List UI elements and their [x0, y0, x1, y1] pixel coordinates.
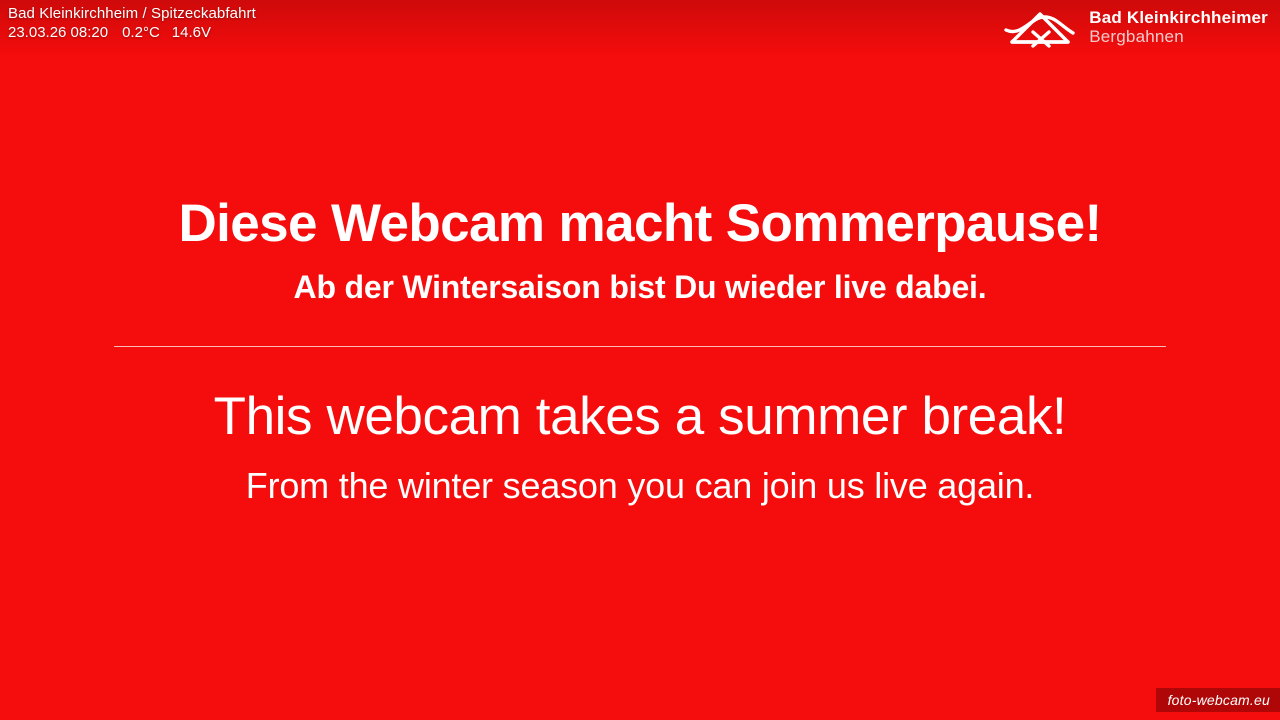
summer-break-message: Diese Webcam macht Sommerpause! Ab der W…: [0, 196, 1280, 505]
brand-name-primary: Bad Kleinkirchheimer: [1089, 8, 1268, 27]
telemetry-row: 23.03.26 08:20 0.2°C 14.6V: [8, 23, 256, 42]
language-divider: [114, 346, 1166, 347]
brand-name-secondary: Bergbahnen: [1089, 27, 1268, 46]
station-name-label: Bad Kleinkirchheim / Spitzeckabfahrt: [8, 4, 256, 23]
temperature-label: 0.2°C: [122, 23, 160, 42]
timestamp-label: 23.03.26 08:20: [8, 23, 108, 42]
brand-logo[interactable]: Bad Kleinkirchheimer Bergbahnen: [1003, 6, 1268, 48]
webcam-offline-screen: Bad Kleinkirchheim / Spitzeckabfahrt 23.…: [0, 0, 1280, 720]
station-info-overlay: Bad Kleinkirchheim / Spitzeckabfahrt 23.…: [8, 4, 256, 42]
mountain-crossed-skis-icon: [1003, 6, 1077, 48]
headline-german: Diese Webcam macht Sommerpause!: [0, 196, 1280, 252]
headline-english: This webcam takes a summer break!: [0, 389, 1280, 445]
subline-english: From the winter season you can join us l…: [0, 466, 1280, 506]
voltage-label: 14.6V: [172, 23, 211, 42]
brand-text: Bad Kleinkirchheimer Bergbahnen: [1089, 8, 1268, 46]
subline-german: Ab der Wintersaison bist Du wieder live …: [0, 270, 1280, 305]
watermark-foto-webcam[interactable]: foto-webcam.eu: [1156, 688, 1280, 712]
